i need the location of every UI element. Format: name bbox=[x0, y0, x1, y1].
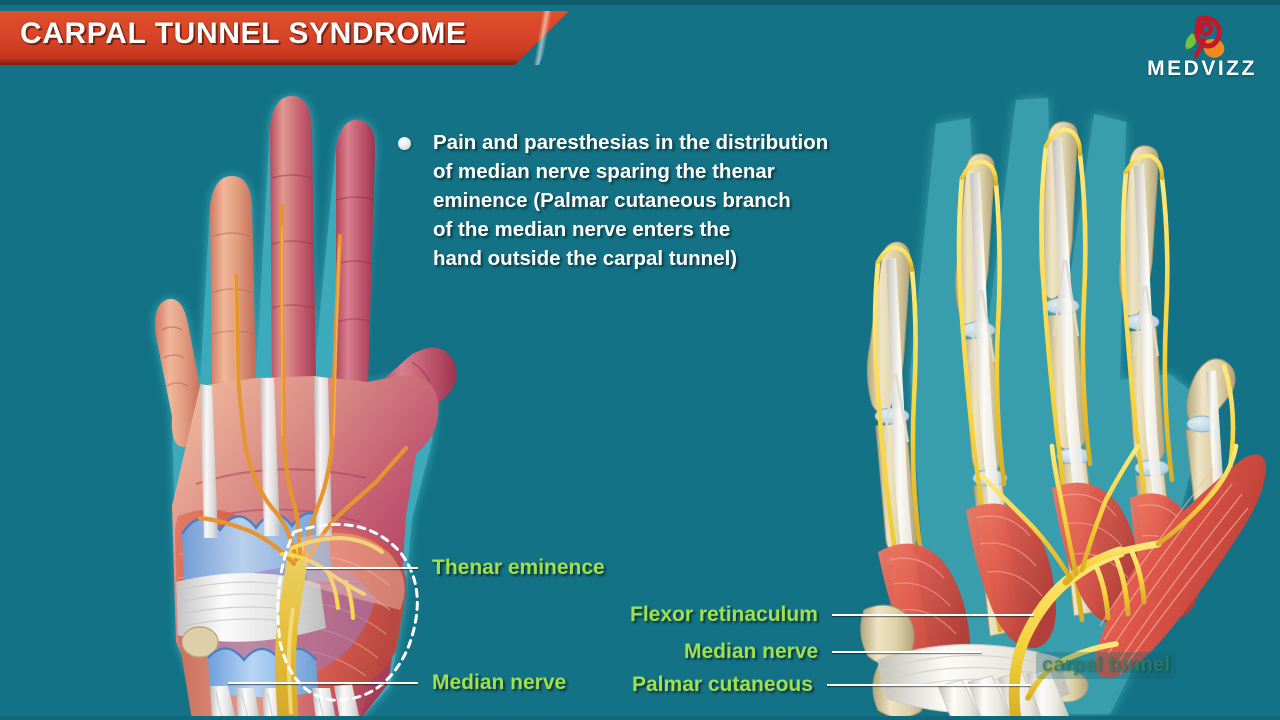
carpal-tunnel-overlay-label: carpal tunnel bbox=[1036, 652, 1176, 679]
bottom-edge-strip bbox=[0, 716, 1280, 720]
leader-line bbox=[827, 684, 1031, 686]
top-edge-strip bbox=[0, 0, 1280, 5]
leader-line bbox=[832, 614, 1034, 616]
annotation-median-nerve-left: Median nerve bbox=[228, 671, 566, 695]
annotation-label: Palmar cutaneous bbox=[632, 673, 813, 697]
slide-canvas: carpal tunnel CARPAL TUNNEL SYNDROME MED… bbox=[0, 0, 1280, 720]
medvizz-wordmark: MEDVIZZ bbox=[1142, 57, 1262, 81]
leader-line bbox=[228, 682, 418, 684]
page-title: CARPAL TUNNEL SYNDROME bbox=[20, 17, 467, 51]
leader-line bbox=[306, 567, 418, 569]
annotation-label: Median nerve bbox=[684, 640, 818, 664]
title-banner: CARPAL TUNNEL SYNDROME bbox=[0, 11, 569, 65]
bullet-dot-icon bbox=[398, 137, 411, 150]
annotation-palmar-cutaneous: Palmar cutaneous bbox=[632, 673, 1031, 697]
annotation-label: Thenar eminence bbox=[432, 556, 605, 580]
medvizz-logo-mark bbox=[1142, 14, 1262, 60]
annotation-median-nerve-right: Median nerve bbox=[684, 640, 982, 664]
bullet-text: Pain and paresthesias in the distributio… bbox=[433, 128, 828, 273]
annotation-label: Median nerve bbox=[432, 671, 566, 695]
annotation-label: Flexor retinaculum bbox=[630, 603, 818, 627]
annotation-flexor-retinaculum: Flexor retinaculum bbox=[630, 603, 1034, 627]
bullet-paragraph: Pain and paresthesias in the distributio… bbox=[398, 128, 908, 273]
annotation-thenar-eminence: Thenar eminence bbox=[306, 556, 605, 580]
leader-line bbox=[832, 651, 982, 653]
medvizz-logo[interactable]: MEDVIZZ bbox=[1142, 14, 1262, 86]
